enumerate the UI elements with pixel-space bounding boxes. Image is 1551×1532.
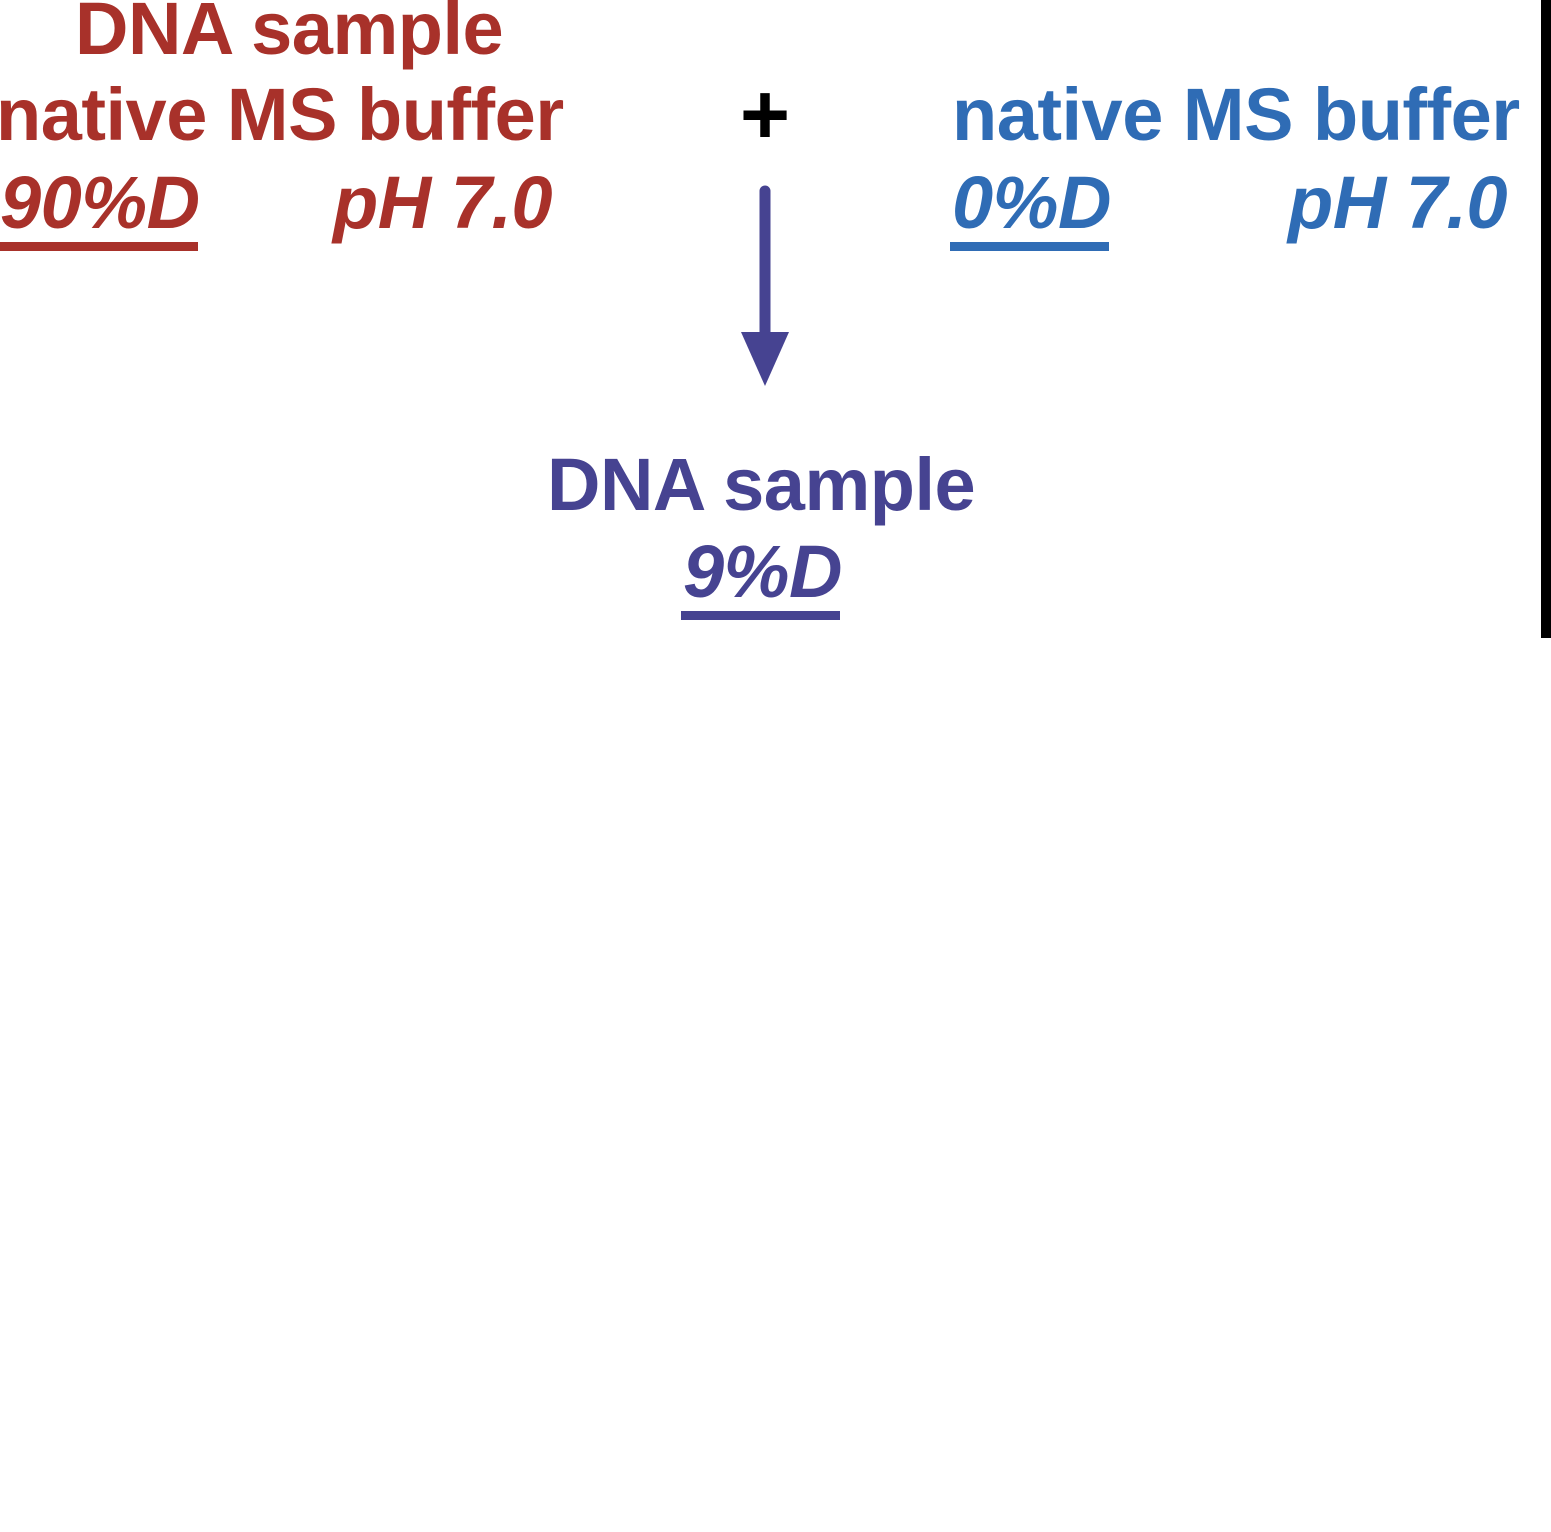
diluent-deuterium-value: 0%D — [952, 166, 1111, 240]
product-sample-label: DNA sample — [547, 448, 975, 522]
product-deuterium-value: 9%D — [683, 535, 842, 609]
donor-ph-value: pH 7.0 — [333, 166, 552, 240]
diluent-deuterium-text: 0%D — [952, 166, 1111, 240]
donor-deuterium-value: 90%D — [0, 166, 200, 240]
donor-sample-label: DNA sample — [75, 0, 503, 66]
panel-divider-rule — [1541, 0, 1551, 638]
donor-deuterium-text: 90%D — [0, 166, 200, 240]
product-deuterium-text: 9%D — [683, 535, 842, 609]
diagram-canvas: DNA sample native MS buffer 90%D pH 7.0 … — [0, 0, 1551, 1532]
diluent-ph-value: pH 7.0 — [1288, 166, 1507, 240]
donor-buffer-label: native MS buffer — [0, 78, 564, 152]
diluent-buffer-label: native MS buffer — [952, 78, 1520, 152]
arrow-head — [741, 332, 789, 386]
down-arrow-icon — [734, 185, 796, 390]
plus-icon: + — [736, 78, 794, 152]
